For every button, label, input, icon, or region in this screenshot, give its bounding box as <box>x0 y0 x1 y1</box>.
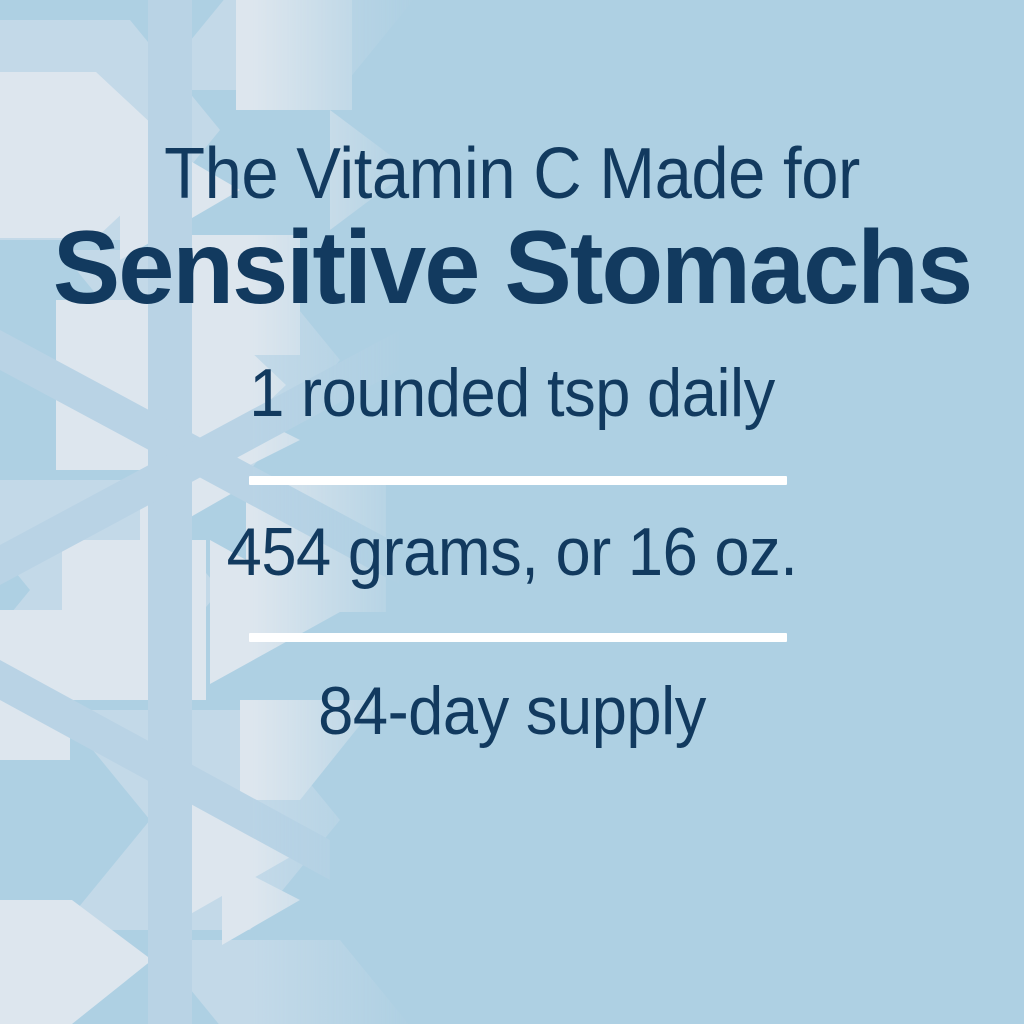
fact-supply-duration: 84-day supply <box>36 672 988 750</box>
headline-block: The Vitamin C Made for Sensitive Stomach… <box>0 138 1024 320</box>
divider-top <box>249 476 787 485</box>
fact-weight: 454 grams, or 16 oz. <box>36 513 988 591</box>
headline-line-1: The Vitamin C Made for <box>36 138 988 210</box>
headline-line-2: Sensitive Stomachs <box>15 216 1008 320</box>
divider-bottom <box>249 633 787 642</box>
fact-dosage: 1 rounded tsp daily <box>36 354 988 432</box>
card-content: The Vitamin C Made for Sensitive Stomach… <box>0 0 1024 1024</box>
product-info-card: The Vitamin C Made for Sensitive Stomach… <box>0 0 1024 1024</box>
